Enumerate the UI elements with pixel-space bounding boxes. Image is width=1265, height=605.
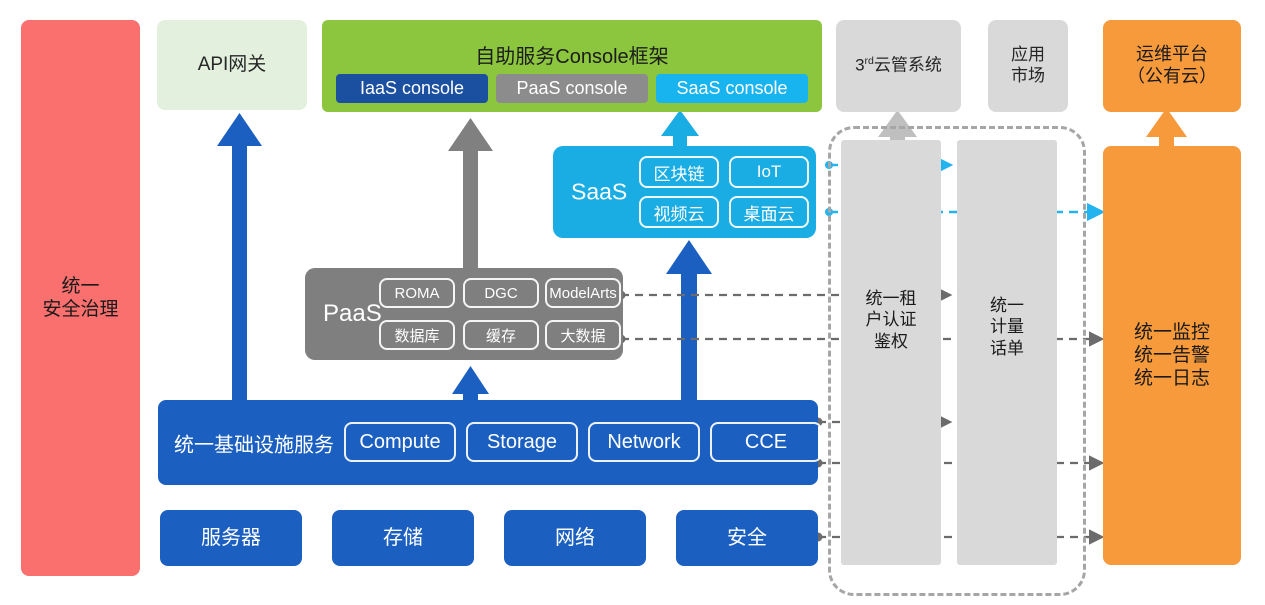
ops-platform-top-label: 运维平台（公有云）	[1127, 44, 1217, 88]
infra-item-cce[interactable]: CCE	[710, 422, 822, 462]
saas-panel: SaaS 区块链 IoT 视频云 桌面云	[553, 146, 816, 238]
paas-panel-label: PaaS	[323, 300, 382, 328]
infra-item-cce-label: CCE	[745, 431, 787, 454]
resource-box-network-label: 网络	[555, 526, 595, 550]
arrow-infra-to-saas	[666, 240, 712, 402]
infrastructure-bar: 统一基础设施服务 Compute Storage Network CCE	[158, 400, 818, 485]
arrow-infra-to-paas	[452, 366, 489, 403]
iaas-console-button[interactable]: IaaS console	[336, 74, 488, 103]
saas-item-blockchain[interactable]: 区块链	[639, 156, 719, 188]
saas-item-video-cloud[interactable]: 视频云	[639, 196, 719, 228]
app-market-box[interactable]: 应用市场	[988, 20, 1068, 112]
saas-console-button[interactable]: SaaS console	[656, 74, 808, 103]
iaas-console-label: IaaS console	[360, 78, 464, 99]
middle-column-metering: 统一计量话单	[957, 140, 1057, 565]
api-gateway-label: API网关	[198, 53, 267, 76]
paas-item-dgc-label: DGC	[484, 285, 517, 302]
resource-box-server[interactable]: 服务器	[160, 510, 302, 566]
paas-item-modelarts-label: ModelArts	[549, 285, 617, 302]
third-party-superscript: rd	[865, 55, 874, 67]
resource-box-storage-label: 存储	[383, 526, 423, 550]
saas-item-desktop-cloud[interactable]: 桌面云	[729, 196, 809, 228]
ops-platform-top-box[interactable]: 运维平台（公有云）	[1103, 20, 1241, 112]
resource-box-storage[interactable]: 存储	[332, 510, 474, 566]
saas-item-blockchain-label: 区块链	[654, 160, 705, 185]
infra-item-network-label: Network	[607, 431, 680, 454]
saas-item-iot[interactable]: IoT	[729, 156, 809, 188]
saas-item-video-cloud-label: 视频云	[654, 200, 705, 225]
saas-item-desktop-cloud-label: 桌面云	[744, 200, 795, 225]
arrow-saas-to-console	[661, 110, 699, 150]
resource-box-server-label: 服务器	[201, 526, 261, 550]
paas-item-cache-label: 缓存	[486, 325, 516, 346]
app-market-label: 应用市场	[1011, 45, 1045, 86]
security-governance-label: 统一安全治理	[42, 275, 118, 321]
infra-item-compute[interactable]: Compute	[344, 422, 456, 462]
paas-console-button[interactable]: PaaS console	[496, 74, 648, 103]
third-party-cloud-label: 3rd云管系统	[855, 55, 942, 76]
saas-panel-label: SaaS	[571, 179, 627, 206]
saas-console-label: SaaS console	[676, 78, 787, 99]
paas-item-bigdata-label: 大数据	[560, 325, 605, 346]
paas-item-bigdata[interactable]: 大数据	[545, 320, 621, 350]
paas-item-cache[interactable]: 缓存	[463, 320, 539, 350]
paas-item-roma[interactable]: ROMA	[379, 278, 455, 308]
infra-item-compute-label: Compute	[359, 431, 440, 454]
ops-platform-right-box: 统一监控统一告警统一日志	[1103, 146, 1241, 565]
paas-item-roma-label: ROMA	[395, 285, 440, 302]
infra-item-network[interactable]: Network	[588, 422, 700, 462]
infra-item-storage[interactable]: Storage	[466, 422, 578, 462]
paas-item-database[interactable]: 数据库	[379, 320, 455, 350]
saas-item-iot-label: IoT	[757, 162, 782, 182]
paas-item-database-label: 数据库	[394, 325, 439, 346]
third-party-cloud-box[interactable]: 3rd云管系统	[836, 20, 961, 112]
paas-console-label: PaaS console	[516, 78, 627, 99]
diagram-canvas: 统一租户认证鉴权 统一计量话单 统一安全治理 API网关 自助服务Console…	[0, 0, 1265, 605]
middle-column-auth-label: 统一租户认证鉴权	[841, 288, 941, 352]
arrow-infra-to-apigw	[217, 113, 262, 401]
resource-box-security[interactable]: 安全	[676, 510, 818, 566]
api-gateway-box[interactable]: API网关	[157, 20, 307, 110]
middle-column-auth: 统一租户认证鉴权	[841, 140, 941, 565]
console-framework-title: 自助服务Console框架	[322, 40, 822, 69]
resource-box-network[interactable]: 网络	[504, 510, 646, 566]
paas-item-modelarts[interactable]: ModelArts	[545, 278, 621, 308]
console-framework: 自助服务Console框架 IaaS console PaaS console …	[322, 20, 822, 112]
paas-item-dgc[interactable]: DGC	[463, 278, 539, 308]
arrow-paas-to-console	[448, 118, 493, 268]
security-governance-column: 统一安全治理	[21, 20, 140, 576]
paas-panel: PaaS ROMA DGC ModelArts 数据库 缓存 大数据	[305, 268, 623, 360]
ops-platform-right-label: 统一监控统一告警统一日志	[1134, 321, 1210, 391]
infrastructure-label: 统一基础设施服务	[174, 428, 334, 457]
arrow-to-ops-platform	[1146, 108, 1187, 150]
infra-item-storage-label: Storage	[487, 431, 557, 454]
middle-column-metering-label: 统一计量话单	[957, 295, 1057, 359]
resource-box-security-label: 安全	[727, 526, 767, 550]
